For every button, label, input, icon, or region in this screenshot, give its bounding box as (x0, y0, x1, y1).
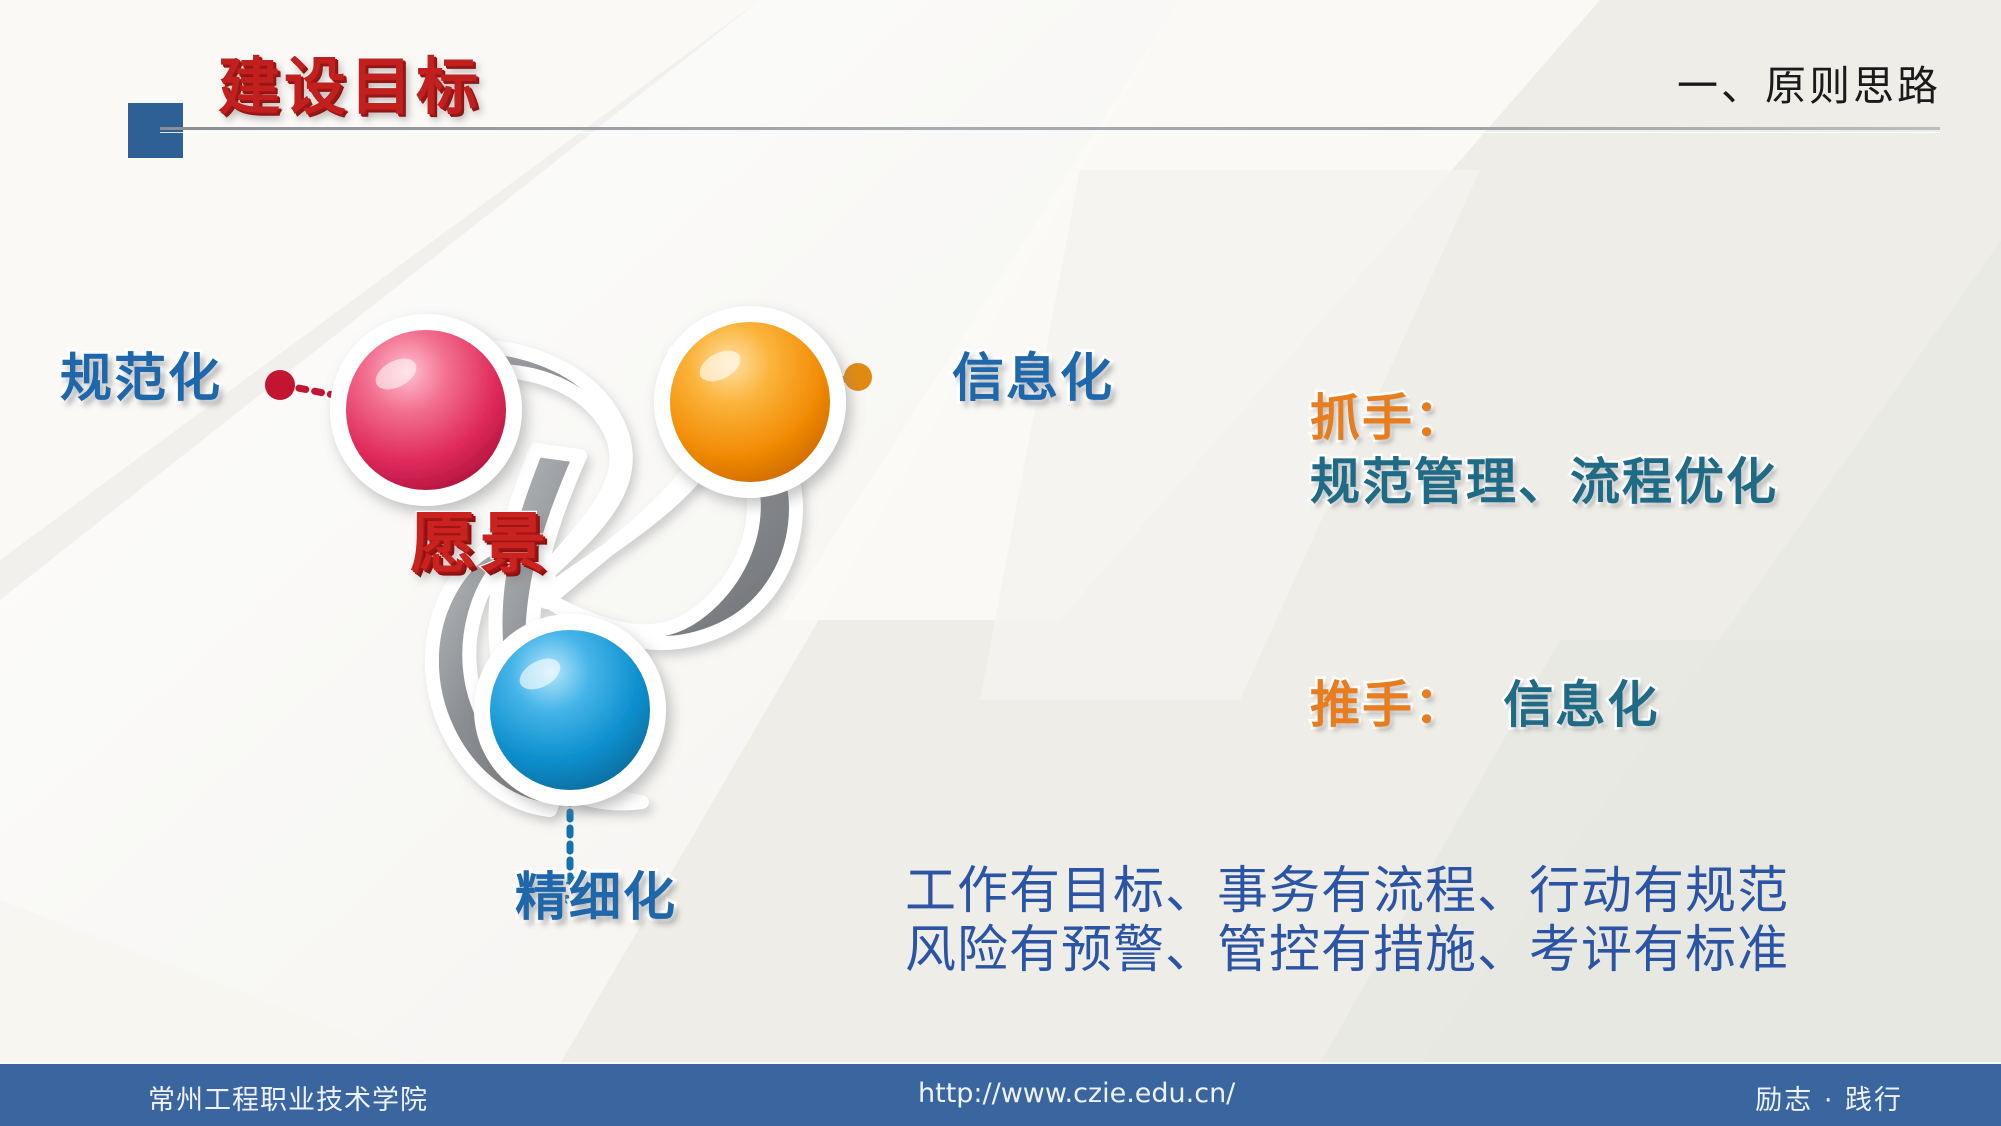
grip-value-line: 规范管理、流程优化 (1310, 442, 1778, 514)
page-title: 建设目标 (218, 36, 482, 126)
grip-key-line: 抓手： (1310, 378, 1466, 450)
grip-key-text: 抓手： (1310, 389, 1466, 447)
node-sphere-fine (474, 614, 666, 806)
trefoil-diagram: 愿景 (250, 290, 890, 910)
node-label-norm: 规范化 (60, 336, 222, 411)
motto-block: 工作有目标、事务有流程、行动有规范 风险有预警、管控有措施、考评有标准 (905, 862, 1789, 980)
push-key-text: 推手： (1310, 676, 1466, 734)
slide-footer: 常州工程职业技术学院 http://www.czie.edu.cn/ 励志 · … (0, 1064, 2001, 1126)
node-label-fine: 精细化 (515, 855, 677, 930)
header-accent-square (128, 103, 183, 158)
push-value-text: 信息化 (1503, 676, 1659, 734)
connector-dot-info (844, 363, 872, 391)
slide-header: 建设目标 一、原则思路 (0, 0, 2001, 150)
footer-slogan: 励志 · 践行 (1755, 1078, 1903, 1117)
header-divider (160, 127, 1940, 130)
motto-line-2: 风险有预警、管控有措施、考评有标准 (905, 921, 1789, 980)
diagram-center-label: 愿景 (410, 490, 550, 586)
slide: 建设目标 一、原则思路 (0, 0, 2001, 1126)
node-sphere-info (654, 306, 846, 498)
section-label: 一、原则思路 (1677, 52, 1941, 112)
header-divider-highlight (160, 132, 1940, 133)
trefoil-knot-graphic (250, 290, 890, 910)
footer-url[interactable]: http://www.czie.edu.cn/ (918, 1078, 1235, 1109)
motto-line-1: 工作有目标、事务有流程、行动有规范 (905, 862, 1789, 921)
node-label-info: 信息化 (952, 336, 1114, 411)
footer-organization: 常州工程职业技术学院 (148, 1078, 428, 1117)
push-line: 推手： 信息化 (1310, 665, 1659, 737)
node-sphere-norm (330, 314, 522, 506)
connector-dot-norm (265, 370, 295, 400)
grip-value-text: 规范管理、流程优化 (1310, 453, 1778, 511)
